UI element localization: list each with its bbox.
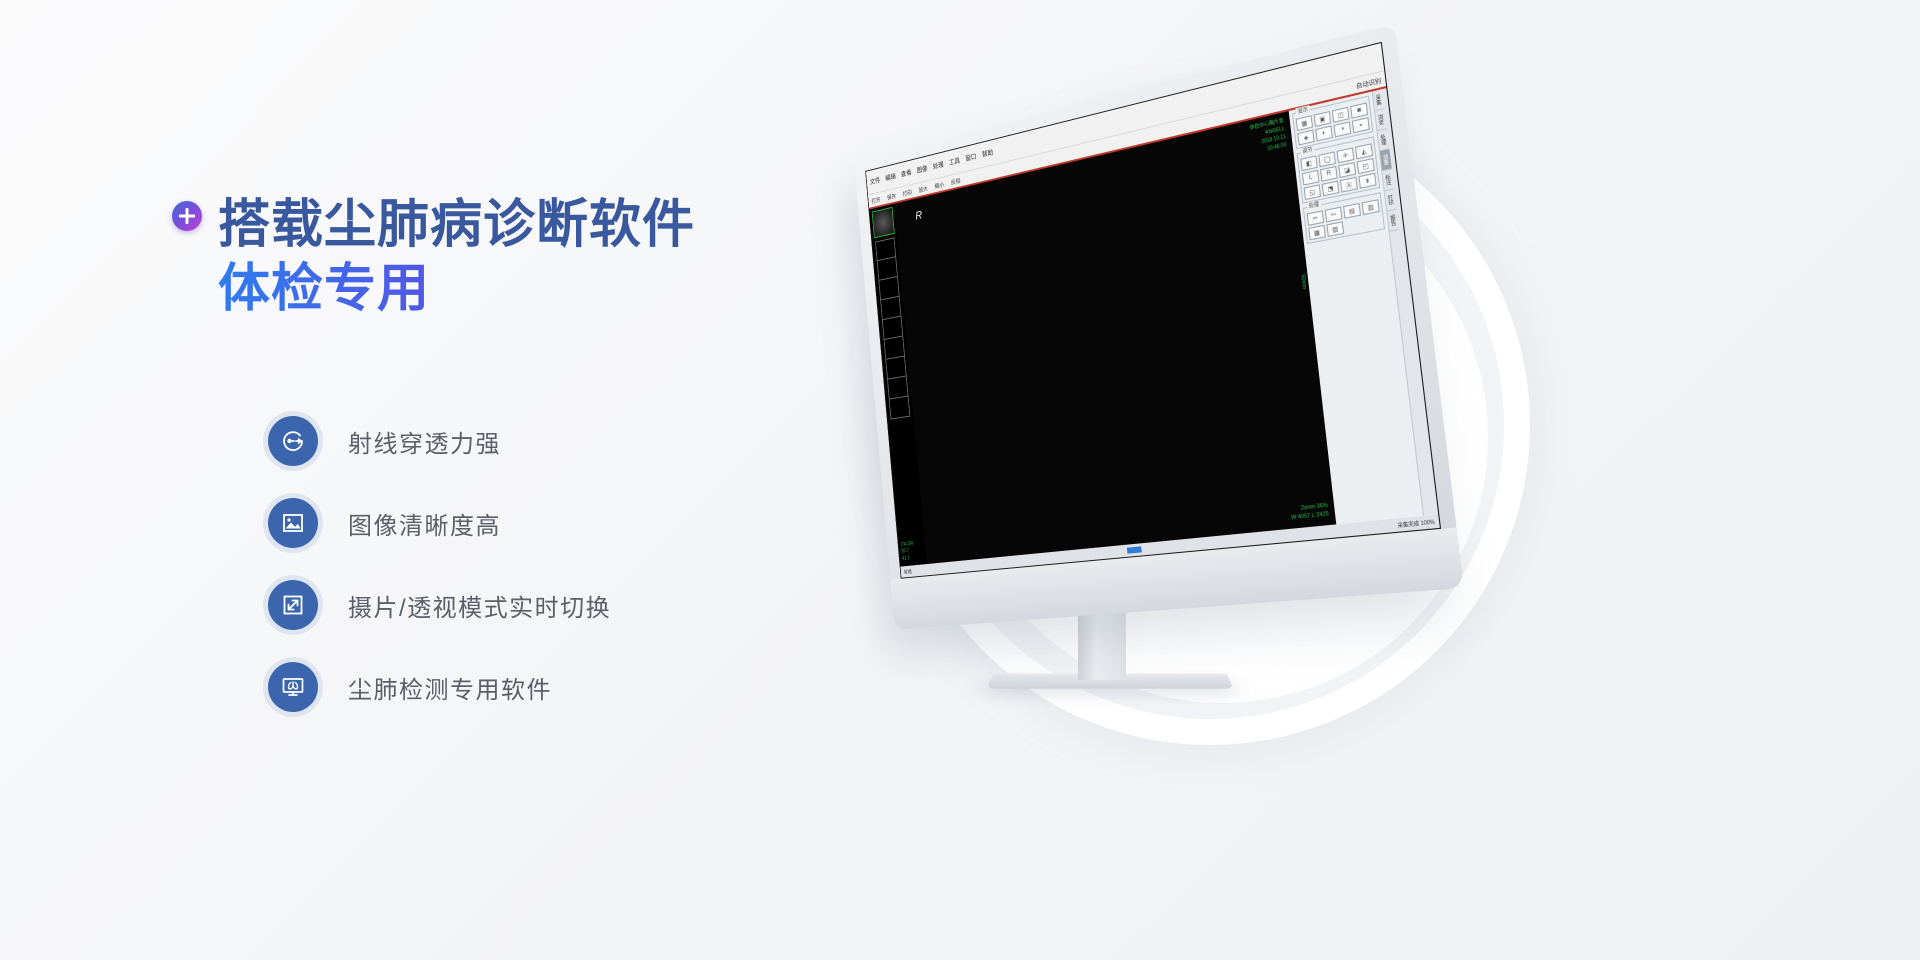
toolstrip-button[interactable]: 缩小	[934, 180, 944, 190]
headline-line-2: 体检专用	[218, 259, 858, 319]
status-left: 就绪	[904, 568, 912, 575]
tool-button[interactable]: Ⓐ	[1340, 177, 1358, 193]
mode-switch-icon	[268, 580, 318, 630]
tool-button[interactable]: ◭	[1355, 143, 1373, 159]
feature-item: 射线穿透力强	[268, 400, 611, 482]
feature-label: 射线穿透力强	[348, 424, 501, 459]
radiation-penetration-icon	[268, 416, 318, 466]
tool-button[interactable]: ◱	[1304, 184, 1321, 200]
toolstrip-button[interactable]: 打印	[902, 187, 912, 197]
tool-button[interactable]: ◰	[1357, 158, 1375, 174]
tab-annotate[interactable]: 标注	[1382, 169, 1394, 191]
tool-button[interactable]: ▦	[1296, 115, 1313, 131]
feature-item: 摄片/透视模式实时切换	[268, 564, 611, 646]
tool-button[interactable]: ✄	[1325, 207, 1343, 223]
rail-green-readout: CR-DR 26.7 41.2	[901, 541, 915, 563]
feature-item: 尘肺检测专用软件	[268, 646, 611, 728]
monitor-screen-body: 文件 编辑 查看 图像 处理 工具 窗口 帮助 打开 保存 打印 放	[854, 23, 1464, 629]
menu-item[interactable]: 查看	[901, 168, 912, 180]
tab-report[interactable]: 报告	[1387, 210, 1399, 232]
tool-button[interactable]: ◧	[1300, 155, 1317, 171]
tool-button[interactable]: ◒	[1352, 117, 1370, 133]
tab-browse[interactable]: 浏览	[1375, 109, 1387, 131]
tool-group-label: 处理	[1306, 200, 1321, 210]
tool-button[interactable]: ◙	[1350, 102, 1368, 118]
promo-banner: 搭载尘肺病诊断软件 体检专用 射线穿透力强	[0, 0, 1920, 960]
menu-item[interactable]: 图像	[916, 164, 927, 176]
feature-list: 射线穿透力强 图像清晰度高 摄片/透视模式实时切换	[268, 400, 611, 728]
feature-label: 摄片/透视模式实时切换	[348, 588, 611, 623]
menu-item[interactable]: 帮助	[982, 148, 994, 160]
tool-group-label: 调节	[1300, 145, 1315, 155]
tab-process[interactable]: 处理	[1378, 129, 1390, 151]
orientation-marker: R	[915, 208, 923, 222]
xray-application: 文件 编辑 查看 图像 处理 工具 窗口 帮助 打开 保存 打印 放	[865, 42, 1441, 579]
tool-button[interactable]: ▤	[1343, 203, 1361, 219]
tool-button[interactable]: ▥	[1362, 199, 1380, 215]
tool-button[interactable]: L	[1302, 170, 1319, 186]
zoom-window-overlay: Zoom 36% W:4057 L:2425	[1290, 501, 1330, 522]
menu-item[interactable]: 窗口	[965, 152, 977, 164]
tool-button[interactable]: ◑	[1333, 121, 1351, 137]
monitor: 文件 编辑 查看 图像 处理 工具 窗口 帮助 打开 保存 打印 放	[810, 90, 1530, 750]
menu-item[interactable]: 工具	[949, 156, 961, 168]
headline-row: 搭载尘肺病诊断软件	[218, 195, 858, 255]
toolstrip-button[interactable]: 保存	[887, 191, 897, 201]
tab-collect[interactable]: 采集	[1373, 89, 1385, 111]
tab-measure[interactable]: 测量	[1380, 149, 1392, 171]
toolstrip-button[interactable]: 放大	[918, 183, 928, 193]
tool-group: 处理 ✂ ✄ ▤ ▥ ▩ ▨	[1303, 192, 1385, 244]
product-visual: 文件 编辑 查看 图像 处理 工具 窗口 帮助 打开 保存 打印 放	[770, 30, 1920, 960]
tool-button[interactable]: ✛	[1337, 147, 1355, 163]
toolstrip-button[interactable]: 打开	[871, 195, 881, 205]
progress-pill	[1127, 546, 1142, 553]
headline-line-1: 搭载尘肺病诊断软件	[218, 195, 695, 255]
tool-button[interactable]: ⬔	[1322, 180, 1340, 196]
tool-button[interactable]: ▣	[1314, 111, 1332, 127]
menu-item[interactable]: 文件	[870, 175, 881, 186]
tool-group-label: 显示	[1295, 105, 1310, 115]
tool-button[interactable]: ◪	[1338, 162, 1356, 178]
status-right: 采集完成 100%	[1397, 518, 1435, 529]
tool-button[interactable]: ◫	[1332, 107, 1350, 123]
feature-label: 尘肺检测专用软件	[348, 670, 552, 705]
tool-button[interactable]: R	[1320, 166, 1338, 182]
menu-item[interactable]: 编辑	[885, 172, 896, 183]
tool-button[interactable]: ▩	[1308, 225, 1326, 241]
study-thumbnail[interactable]	[872, 207, 895, 238]
menu-item[interactable]: 处理	[932, 160, 944, 172]
headline-block: 搭载尘肺病诊断软件 体检专用	[218, 195, 858, 320]
toolstrip-button[interactable]: 反相	[950, 176, 960, 186]
image-clarity-icon	[268, 498, 318, 548]
feature-item: 图像清晰度高	[268, 482, 611, 564]
feature-label: 图像清晰度高	[348, 506, 501, 541]
tool-button[interactable]: ⇟	[1358, 173, 1376, 189]
tool-button[interactable]: ▨	[1326, 221, 1344, 237]
tool-button[interactable]: ◈	[1297, 130, 1314, 146]
tool-button[interactable]: ◐	[1315, 125, 1333, 141]
tool-button[interactable]: ✂	[1307, 210, 1325, 226]
tab-print[interactable]: 打印	[1385, 189, 1397, 211]
pneumoconiosis-software-icon	[268, 662, 318, 712]
rail-green-line: 41.2	[902, 555, 915, 563]
plus-badge-icon	[172, 201, 202, 231]
tool-button[interactable]: ◯	[1318, 151, 1336, 167]
